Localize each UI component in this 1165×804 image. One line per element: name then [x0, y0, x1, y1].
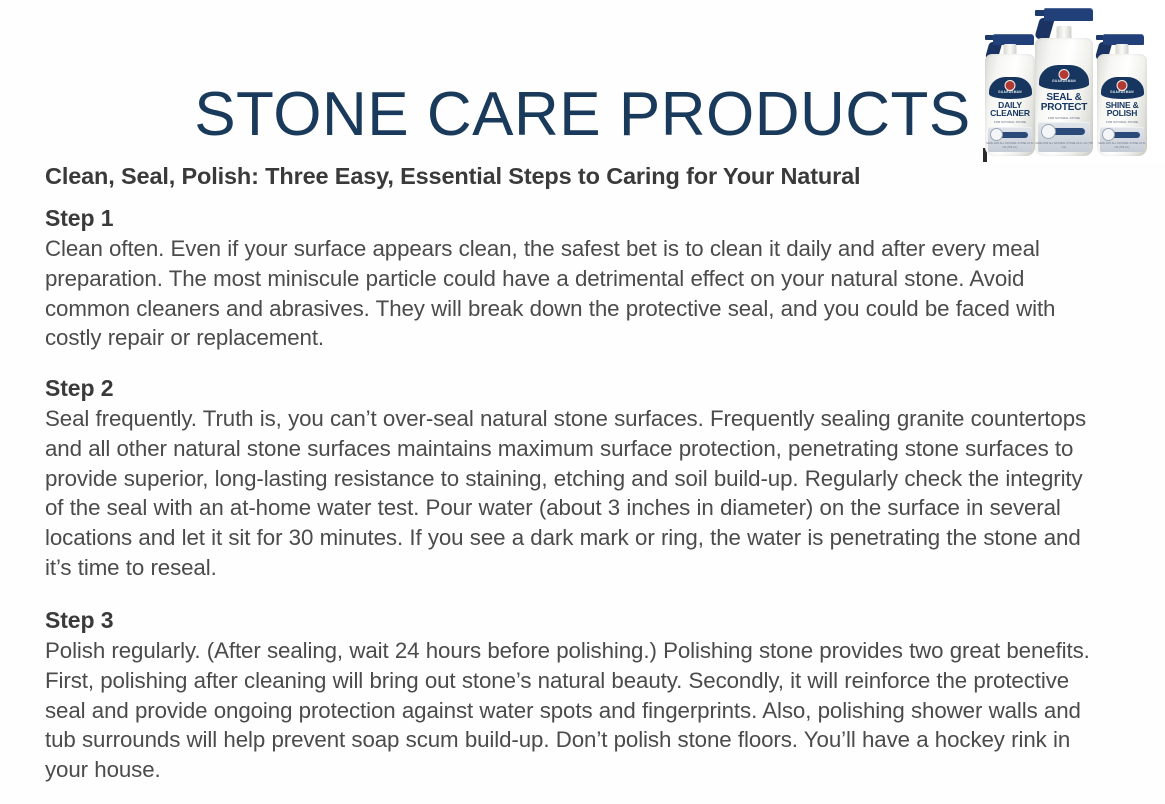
step-body-1: Clean often. Even if your surface appear…	[45, 234, 1107, 353]
step-section-2: Step 2 Seal frequently. Truth is, you ca…	[45, 375, 1107, 582]
bottle-subtitle: FOR NATURAL STONE	[991, 121, 1029, 125]
bottle-brand: GUARDSMAN	[1035, 79, 1093, 83]
trigger-top-icon	[1044, 8, 1093, 21]
step-section-1: Step 1 Clean often. Even if your surface…	[45, 205, 1107, 353]
step-heading-2: Step 2	[45, 375, 1107, 401]
bottle-shine-polish: GUARDSMAN SHINE & POLISH FOR NATURAL STO…	[1097, 24, 1147, 156]
product-bottles-photo: GUARDSMAN DAILY CLEANER FOR NATURAL STON…	[980, 0, 1165, 162]
bottle-daily-cleaner: GUARDSMAN DAILY CLEANER FOR NATURAL STON…	[985, 24, 1035, 156]
bottle-subtitle: FOR NATURAL STONE	[1042, 117, 1086, 121]
step-heading-1: Step 1	[45, 205, 1107, 231]
bottle-footer-text: SAFE FOR ALL NATURAL STONE 24 FL OZ (709…	[1097, 142, 1147, 149]
trigger-handle-icon	[1034, 18, 1055, 39]
document-page: STONE CARE PRODUCTS Clean, Seal, Polish:…	[0, 0, 1165, 804]
step-section-3: Step 3 Polish regularly. (After sealing,…	[45, 607, 1107, 785]
bottle-footer-ring-icon	[1041, 124, 1056, 139]
bottle-footer-ring-icon	[990, 128, 1003, 141]
page-subtitle: Clean, Seal, Polish: Three Easy, Essenti…	[45, 163, 1005, 190]
bottle-seal-protect: GUARDSMAN SEAL & PROTECT FOR NATURAL STO…	[1035, 0, 1093, 156]
bottle-footer-text: SAFE FOR ALL NATURAL STONE 24 FL OZ (709…	[985, 142, 1035, 149]
bottle-product-name: SEAL & PROTECT	[1035, 93, 1093, 113]
step-heading-3: Step 3	[45, 607, 1107, 633]
bottle-brand: GUARDSMAN	[1097, 90, 1147, 94]
bottle-subtitle: FOR NATURAL STONE	[1103, 121, 1141, 125]
bottle-product-name: SHINE & POLISH	[1097, 101, 1147, 118]
bottle-brand: GUARDSMAN	[985, 90, 1035, 94]
bottle-product-name: DAILY CLEANER	[985, 101, 1035, 118]
bottle-footer-text: SAFE FOR ALL NATURAL STONE 24 FL OZ (709…	[1035, 142, 1093, 149]
bottle-footer-ring-icon	[1102, 128, 1115, 141]
step-body-3: Polish regularly. (After sealing, wait 2…	[45, 636, 1107, 784]
step-body-2: Seal frequently. Truth is, you can’t ove…	[45, 404, 1107, 582]
